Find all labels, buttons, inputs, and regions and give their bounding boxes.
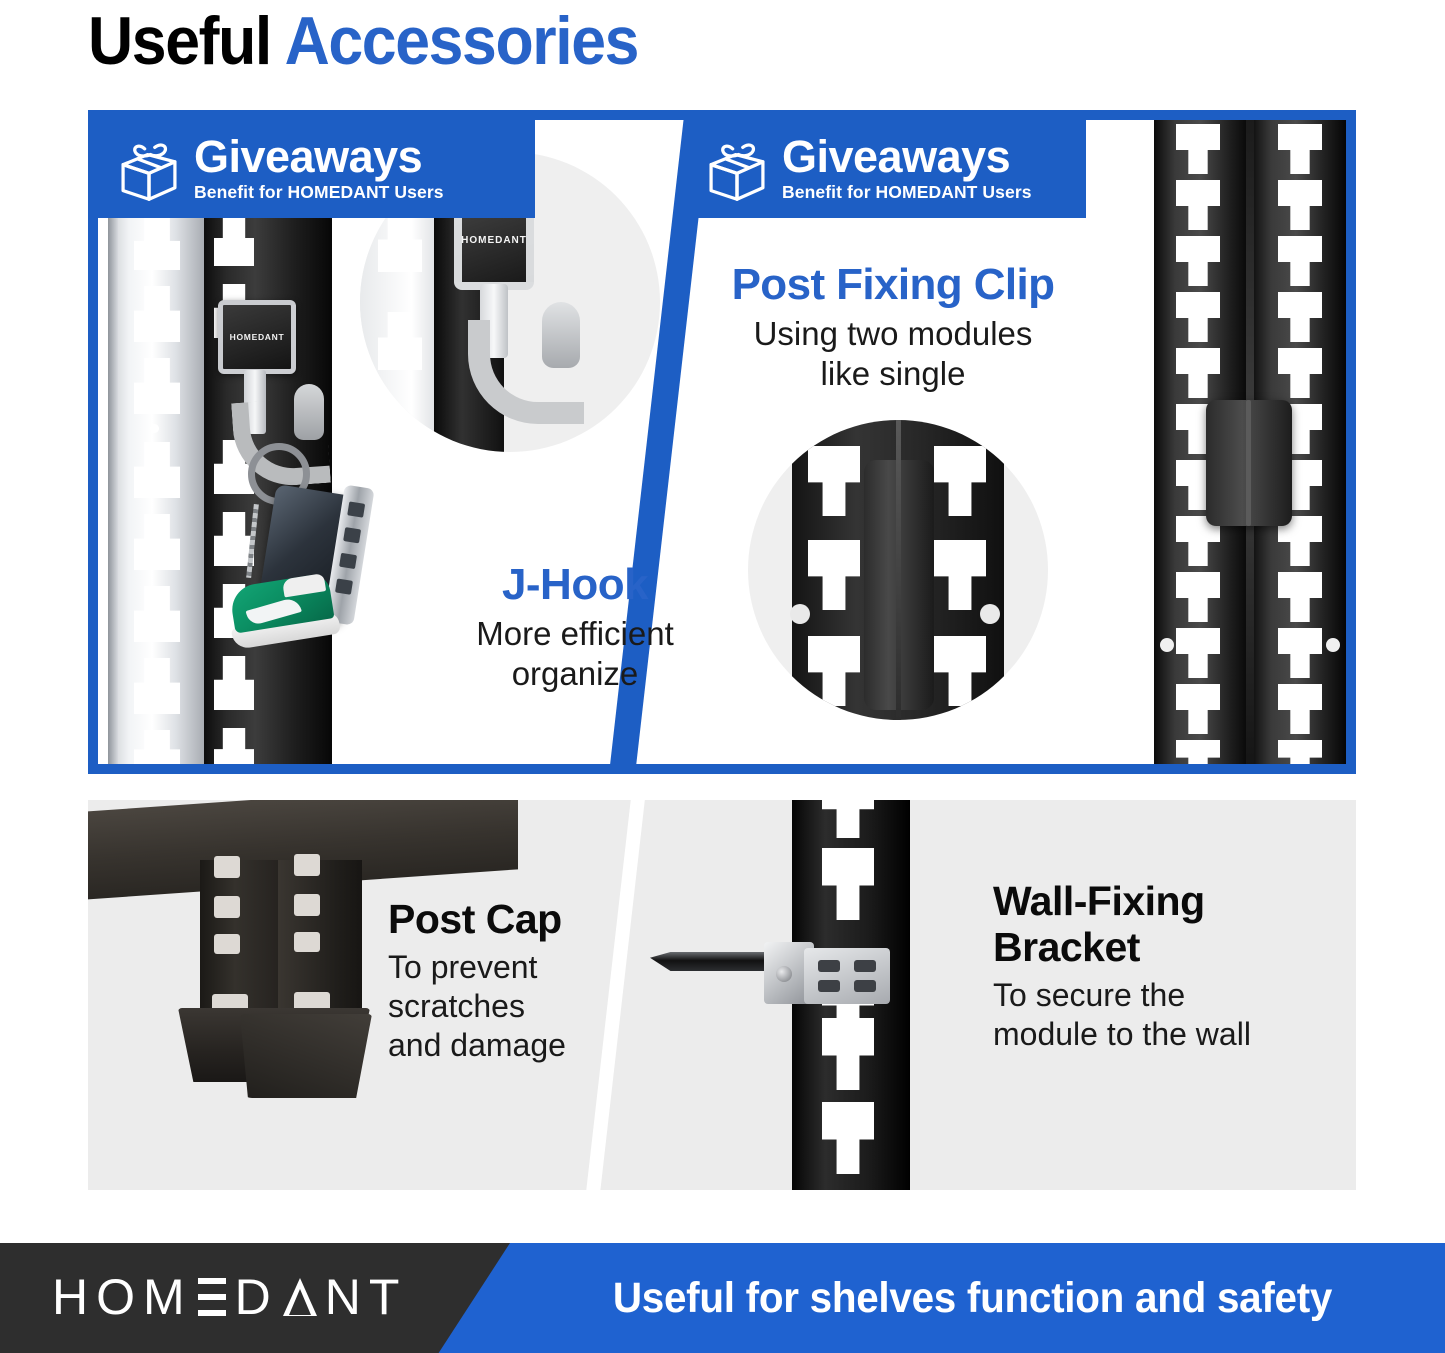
logo-letter-t: T: [369, 1271, 404, 1323]
post-slot: [214, 218, 254, 266]
post-slot: [1278, 124, 1322, 174]
post-slot: [214, 934, 240, 954]
giveaway-title-left: Giveaways: [194, 135, 444, 179]
post-rivet-hole: [1326, 638, 1340, 652]
post-slot: [1176, 292, 1220, 342]
wall-bracket-desc-line1: To secure the: [993, 976, 1343, 1015]
bracket-screw: [776, 966, 792, 982]
logo-letter-m: M: [143, 1271, 189, 1323]
bottom-feature-panel: Post Cap To prevent scratches and damage: [88, 800, 1356, 1190]
post-fixing-clip-desc-line1: Using two modules: [698, 314, 1088, 354]
post-slot: [1278, 572, 1322, 622]
jhook-text-block: J-Hook More efficient organize: [430, 560, 720, 694]
giveaway-text-left: Giveaways Benefit for HOMEDANT Users: [194, 135, 444, 203]
post-slot: [1278, 348, 1322, 398]
fob-button: [335, 578, 353, 594]
logo-letter-d: D: [235, 1271, 275, 1323]
inset-jhook-brand-label: HOMEDANT: [461, 235, 527, 246]
post-slot: [378, 312, 422, 370]
bracket-hole: [818, 980, 840, 992]
post-slot: [822, 800, 874, 838]
post-rivet-hole: [150, 424, 159, 433]
clip-rivet-hole: [790, 604, 810, 624]
post-slot: [934, 636, 986, 706]
gift-box-icon: [112, 133, 186, 205]
inset-clip-seam: [896, 420, 901, 720]
post-cap-desc-line1: To prevent: [388, 948, 688, 987]
post-slot: [134, 442, 180, 498]
post-slot: [214, 656, 254, 710]
jhook-title: J-Hook: [430, 560, 720, 610]
post-slot: [822, 1018, 874, 1090]
post-slot: [1278, 292, 1322, 342]
post-slot: [1176, 740, 1220, 764]
joined-posts-photo: [1098, 120, 1346, 764]
top-feature-panel: HOMEDANT: [88, 110, 1356, 774]
post-slot: [1278, 740, 1322, 764]
giveaway-banner-right: Giveaways Benefit for HOMEDANT Users: [686, 120, 1086, 218]
post-rivet-hole: [1160, 638, 1174, 652]
post-cap-desc-line3: and damage: [388, 1026, 688, 1065]
post-fixing-clip-seam: [1246, 400, 1251, 526]
post-slot: [1176, 180, 1220, 230]
post-slot: [214, 856, 240, 878]
post-slot: [214, 896, 240, 918]
post-slot: [808, 446, 860, 516]
logo-letter-a-triangle-glyph: [283, 1278, 317, 1316]
page-title-part2: Accessories: [285, 3, 638, 79]
fob-button: [343, 527, 361, 543]
post-slot: [294, 932, 320, 952]
post-slot: [134, 358, 180, 414]
bracket-hole: [818, 960, 840, 972]
post-slot: [808, 540, 860, 610]
infographic-page: Useful Accessories: [0, 0, 1445, 1353]
bracket-hole: [854, 980, 876, 992]
wall-bracket-desc-line2: module to the wall: [993, 1015, 1343, 1054]
logo-letter-h: H: [52, 1271, 92, 1323]
post-slot: [294, 894, 320, 916]
giveaway-banner-left: Giveaways Benefit for HOMEDANT Users: [98, 120, 535, 218]
wall-bracket-text-block: Wall-Fixing Bracket To secure the module…: [993, 878, 1343, 1054]
logo-letter-o: O: [96, 1271, 139, 1323]
page-title: Useful Accessories: [88, 2, 638, 80]
post-fixing-clip-text-block: Post Fixing Clip Using two modules like …: [698, 260, 1088, 394]
post-slot: [934, 540, 986, 610]
giveaway-title-right: Giveaways: [782, 135, 1032, 179]
post-cap-title: Post Cap: [388, 896, 688, 942]
post-fixing-clip-zoom-inset: [748, 420, 1048, 720]
screwdriver: [650, 952, 778, 971]
post-cap-desc-line2: scratches: [388, 987, 688, 1026]
silver-post-edge: [108, 218, 118, 764]
logo-letter-n: N: [325, 1271, 365, 1323]
wall-bracket-horizontal-plate: [804, 948, 890, 1004]
post-slot: [1176, 572, 1220, 622]
inset-jhook-tip: [542, 302, 580, 368]
wall-bracket-title-line2: Bracket: [993, 924, 1343, 970]
logo-letter-e-glyph: [198, 1278, 226, 1316]
gift-box-icon: [700, 133, 774, 205]
bracket-hole: [854, 960, 876, 972]
jhook-desc-line2: organize: [430, 654, 720, 694]
post-slot: [1278, 180, 1322, 230]
post-slot: [134, 218, 180, 270]
post-slot: [1176, 348, 1220, 398]
page-title-part1: Useful: [88, 3, 285, 79]
post-slot: [294, 854, 320, 876]
jhook-tip: [294, 384, 324, 440]
homedant-logo: H O M D N T: [52, 1271, 403, 1323]
giveaway-text-right: Giveaways Benefit for HOMEDANT Users: [782, 135, 1032, 203]
post-slot: [1278, 684, 1322, 734]
post-slot: [1176, 628, 1220, 678]
clip-rivet-hole: [980, 604, 1000, 624]
post-slot: [134, 286, 180, 342]
wall-bracket-title-line1: Wall-Fixing: [993, 878, 1343, 924]
post-slot: [1176, 236, 1220, 286]
jhook-desc-line1: More efficient: [430, 614, 720, 654]
footer-bar: H O M D N T Useful for shelves function …: [0, 1243, 1445, 1353]
post-slot: [808, 636, 860, 706]
wall-bracket-photo: [644, 800, 984, 1190]
giveaway-subtitle-left: Benefit for HOMEDANT Users: [194, 181, 444, 203]
jhook-brand-label: HOMEDANT: [230, 332, 285, 342]
jhook-module: HOMEDANT: [218, 300, 296, 374]
post-slot: [822, 848, 874, 920]
silver-post-image: [108, 218, 204, 764]
footer-tagline: Useful for shelves function and safety: [528, 1243, 1416, 1353]
post-slot: [1176, 684, 1220, 734]
post-slot: [1278, 236, 1322, 286]
post-cap-product-side: [240, 1014, 372, 1098]
post-slot: [134, 586, 180, 642]
post-slot: [134, 658, 180, 714]
post-slot: [214, 728, 254, 764]
post-slot: [822, 1102, 874, 1174]
post-cap-text-block: Post Cap To prevent scratches and damage: [388, 896, 688, 1065]
post-slot: [1176, 124, 1220, 174]
post-slot: [1278, 628, 1322, 678]
post-slot: [934, 446, 986, 516]
post-slot: [134, 514, 180, 570]
fob-button: [347, 501, 365, 517]
post-slot: [378, 214, 422, 272]
post-fixing-clip-desc-line2: like single: [698, 354, 1088, 394]
giveaway-subtitle-right: Benefit for HOMEDANT Users: [782, 181, 1032, 203]
fob-button: [339, 553, 357, 569]
post-slot: [134, 730, 180, 764]
post-fixing-clip-title: Post Fixing Clip: [698, 260, 1088, 310]
top-feature-inner: HOMEDANT: [98, 120, 1346, 764]
